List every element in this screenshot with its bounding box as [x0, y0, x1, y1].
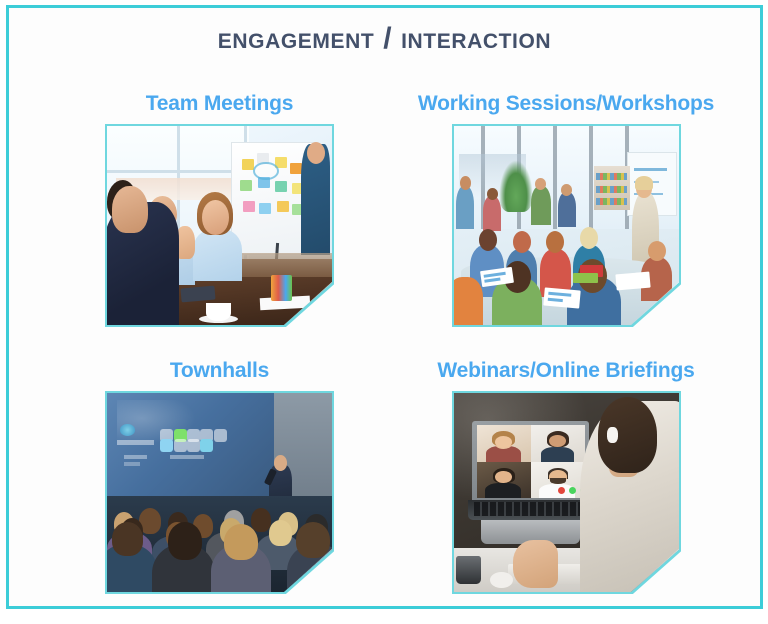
sticky-note: [277, 201, 289, 212]
photo-townhalls: [107, 393, 332, 592]
audience-head-front: [168, 522, 202, 560]
card-team-meetings: Team Meetings: [91, 92, 348, 335]
background-person-body: [531, 186, 551, 226]
background-person-head: [487, 188, 498, 200]
participant-head: [513, 231, 531, 253]
background-person-head: [561, 184, 572, 196]
lanyard: [301, 582, 324, 592]
video-tile: [477, 462, 531, 499]
app-icon: [187, 439, 200, 452]
window-post: [589, 126, 593, 229]
potted-plant: [499, 160, 533, 212]
background-person-head: [535, 178, 546, 190]
audience-head-front: [224, 524, 258, 560]
participant-head: [648, 241, 666, 261]
app-icon: [214, 429, 227, 442]
participant-body-front: [454, 277, 483, 325]
book-row: [596, 173, 628, 180]
slide-canvas: Engagement / Interaction Team Meetings: [6, 5, 763, 609]
window-post: [553, 126, 557, 229]
earbud-icon: [607, 427, 618, 443]
presenter-head: [307, 142, 325, 164]
participant-body: [485, 483, 521, 498]
background-person-body: [558, 192, 576, 228]
app-icon: [174, 439, 187, 452]
document-chart-bar: [484, 278, 500, 283]
presentation-logo: [120, 424, 135, 436]
slide-text-block: [170, 455, 203, 458]
background-person-body: [456, 186, 474, 230]
projection-screen: [107, 393, 274, 508]
photo-working-sessions: [454, 126, 679, 325]
laptop-keyboard: [474, 502, 587, 516]
photo-webinars: [454, 393, 679, 592]
page-title: Engagement / Interaction: [9, 22, 760, 56]
photo-frame-webinars: [452, 391, 681, 594]
flipchart-diagram: [253, 162, 278, 180]
audience-head: [269, 520, 292, 546]
app-icon: [160, 439, 173, 452]
participant-body: [541, 447, 573, 462]
coffee-mug: [456, 556, 481, 584]
document-chart-bar: [547, 298, 563, 302]
attendee-body: [193, 229, 243, 281]
notebook: [573, 273, 598, 283]
sticky-note: [259, 203, 271, 214]
card-working-sessions: Working Sessions/Workshops: [407, 92, 725, 335]
card-label-team-meetings: Team Meetings: [91, 92, 348, 116]
photo-frame-working-sessions: [452, 124, 681, 327]
sticky-note: [240, 180, 252, 191]
document: [543, 288, 580, 309]
window-mullion: [107, 170, 249, 173]
document: [615, 272, 650, 291]
mouse: [490, 572, 513, 588]
video-tile: [531, 462, 585, 499]
speaker-head: [274, 455, 288, 471]
card-label-webinars: Webinars/Online Briefings: [407, 359, 725, 383]
audience-head-front: [112, 522, 144, 556]
photo-frame-team-meetings: [105, 124, 334, 327]
sticky-note: [243, 201, 255, 212]
coffee-cup: [206, 303, 231, 321]
photo-frame-townhalls: [105, 391, 334, 594]
card-label-townhalls: Townhalls: [91, 359, 348, 383]
whiteboard-sketch: [634, 168, 667, 170]
background-person-head: [460, 176, 471, 190]
book-row: [596, 186, 628, 193]
card-webinars: Webinars/Online Briefings: [407, 359, 725, 602]
slide-text-block: [124, 462, 141, 465]
participant-head: [479, 229, 497, 251]
background-person-body: [483, 196, 501, 232]
video-call-grid: [477, 425, 585, 499]
card-townhalls: Townhalls: [91, 359, 348, 602]
attendee-head: [202, 200, 229, 236]
photo-team-meetings: [107, 126, 332, 325]
slide-text-block: [124, 455, 147, 458]
call-control-end: [558, 487, 565, 494]
call-control-mic: [569, 487, 576, 494]
app-icon: [200, 439, 213, 452]
audience-head: [251, 508, 271, 532]
video-tile: [531, 425, 585, 462]
participant-face: [549, 435, 566, 447]
document-chart-bar: [548, 292, 572, 297]
audience-head-front: [296, 522, 330, 558]
facilitator-hair: [635, 176, 653, 190]
slide-text-block: [117, 440, 154, 445]
book-row: [596, 198, 628, 205]
viewer-hand: [513, 540, 558, 588]
participant-face: [495, 436, 512, 448]
foreground-attendee-head: [112, 186, 148, 234]
sticky-note: [275, 181, 287, 192]
bookshelf: [594, 166, 630, 210]
video-tile: [477, 425, 531, 462]
card-label-working-sessions: Working Sessions/Workshops: [407, 92, 725, 116]
sticky-note: [242, 159, 254, 170]
pencil-cup: [271, 275, 291, 301]
